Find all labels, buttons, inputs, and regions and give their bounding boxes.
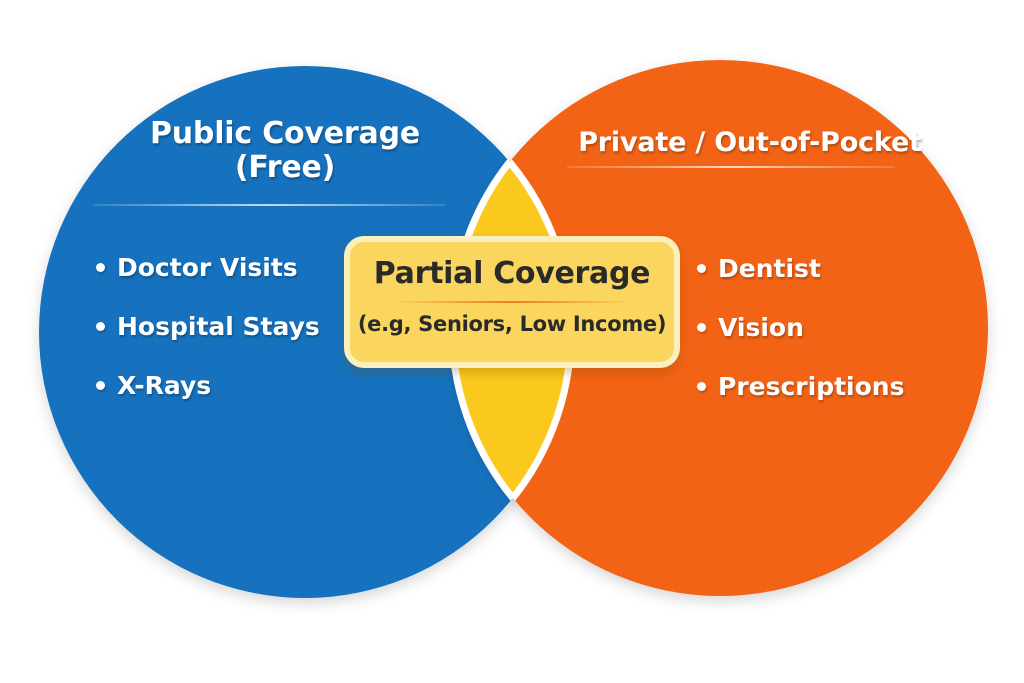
intersection-title: Partial Coverage (350, 259, 674, 289)
right-circle-title: Private / Out-of-Pocket (550, 128, 950, 158)
bullet-icon (96, 263, 105, 272)
right-item-label: Dentist (718, 254, 821, 283)
list-item: Vision (697, 315, 997, 340)
left-circle-title-line1: Public Coverage (60, 117, 510, 151)
bullet-icon (96, 322, 105, 331)
left-circle-title-line2: (Free) (60, 151, 510, 185)
left-item-label: Doctor Visits (117, 253, 298, 282)
right-circle-item-list: Dentist Vision Prescriptions (697, 256, 997, 433)
bullet-icon (96, 381, 105, 390)
intersection-subtitle: (e.g, Seniors, Low Income) (350, 314, 674, 335)
bullet-icon (697, 382, 706, 391)
bullet-icon (697, 264, 706, 273)
bullet-icon (697, 323, 706, 332)
left-item-label: X-Rays (117, 371, 211, 400)
intersection-callout-box: Partial Coverage (e.g, Seniors, Low Inco… (344, 236, 680, 368)
venn-diagram-canvas: Public Coverage (Free) Doctor Visits Hos… (0, 0, 1024, 683)
left-title-divider (93, 204, 445, 206)
right-item-label: Vision (718, 313, 804, 342)
list-item: Prescriptions (697, 374, 997, 399)
list-item: Dentist (697, 256, 997, 281)
left-item-label: Hospital Stays (117, 312, 320, 341)
right-title-divider (567, 166, 895, 168)
list-item: X-Rays (96, 373, 396, 398)
left-circle-title: Public Coverage (Free) (60, 117, 510, 184)
intersection-divider (399, 301, 625, 303)
right-item-label: Prescriptions (718, 372, 904, 401)
